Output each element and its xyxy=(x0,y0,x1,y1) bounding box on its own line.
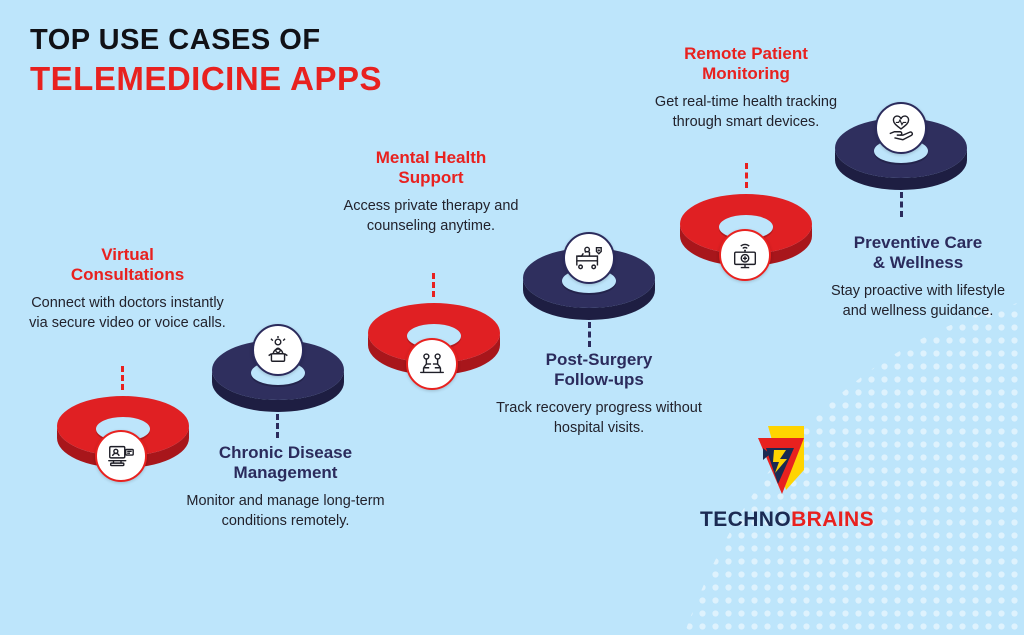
video-consultation-icon[interactable] xyxy=(95,430,147,482)
node-2-heading: Chronic Disease Management xyxy=(178,443,393,484)
node-5-heading: Remote Patient Monitoring xyxy=(640,44,852,85)
node-4-body: Track recovery progress without hospital… xyxy=(490,398,708,439)
logo-wordmark: TECHNOBRAINS xyxy=(700,508,872,532)
node-6-body: Stay proactive with lifestyle and wellne… xyxy=(818,281,1018,322)
logo-techno-text: TECHNO xyxy=(700,508,791,531)
node-1-heading: Virtual Consultations xyxy=(20,245,235,286)
node-6-heading: Preventive Care & Wellness xyxy=(818,233,1018,274)
node-4-text: Post-Surgery Follow-ups Track recovery p… xyxy=(490,350,708,439)
patient-care-icon[interactable] xyxy=(252,324,304,376)
node-1-connector xyxy=(121,366,124,390)
therapy-session-icon[interactable] xyxy=(406,338,458,390)
logo-brains-text: BRAINS xyxy=(791,508,874,531)
node-5-text: Remote Patient Monitoring Get real-time … xyxy=(640,44,852,133)
node-5-body: Get real-time health tracking through sm… xyxy=(640,92,852,133)
node-4-heading: Post-Surgery Follow-ups xyxy=(490,350,708,391)
node-3-connector xyxy=(432,273,435,297)
node-3-text: Mental Health Support Access private the… xyxy=(325,148,537,237)
node-3-body: Access private therapy and counseling an… xyxy=(325,196,537,237)
node-2-text: Chronic Disease Management Monitor and m… xyxy=(178,443,393,532)
node-3-heading: Mental Health Support xyxy=(325,148,537,189)
heart-in-hand-icon[interactable] xyxy=(875,102,927,154)
node-6-connector xyxy=(900,192,903,217)
node-1-text: Virtual Consultations Connect with docto… xyxy=(20,245,235,334)
node-4-connector xyxy=(588,322,591,347)
brand-logo[interactable]: TECHNOBRAINS xyxy=(700,424,872,532)
remote-monitor-icon[interactable] xyxy=(719,229,771,281)
node-6-text: Preventive Care & Wellness Stay proactiv… xyxy=(818,233,1018,322)
node-2-connector xyxy=(276,414,279,438)
hospital-bed-icon[interactable] xyxy=(563,232,615,284)
node-5-connector xyxy=(745,163,748,188)
node-2-body: Monitor and manage long-term conditions … xyxy=(178,491,393,532)
node-1-body: Connect with doctors instantly via secur… xyxy=(20,293,235,334)
technobrains-logo-mark xyxy=(744,424,828,502)
